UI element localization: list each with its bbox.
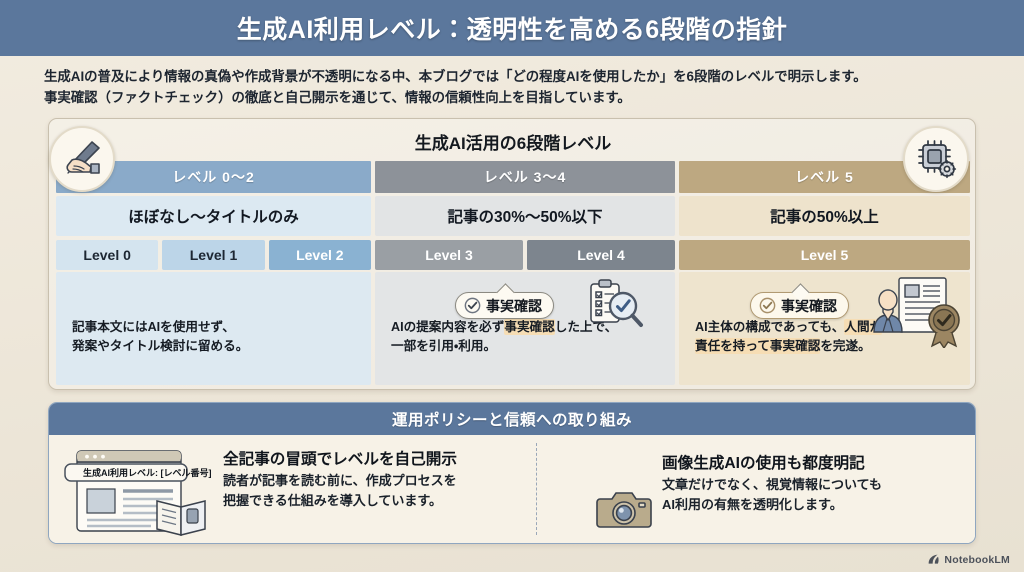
desc2-l2-post: を完遂。 — [820, 339, 870, 353]
fact-check-badge-level-5: 事実確認 — [750, 292, 849, 319]
policy-card: 運用ポリシーと信頼への取り組み — [48, 402, 976, 544]
watermark: NotebookLM — [927, 553, 1010, 566]
policy-item-image-ai-heading: 画像生成AIの使用も都度明記 — [662, 453, 882, 475]
browser-article-book-icon: 生成AI利用レベル: [レベル番号] — [63, 447, 213, 544]
level-chip-0: Level 0 — [56, 240, 158, 270]
policy-item-disclosure: 生成AI利用レベル: [レベル番号] 全記事の冒頭でレベルを自己開示 読者が記事… — [49, 435, 516, 544]
fact-check-badge-level-5-label: 事実確認 — [781, 296, 837, 316]
desc1-l1-pre: AIの提案内容を必ず — [391, 320, 504, 334]
notebooklm-icon — [927, 553, 940, 566]
intro-line-1: 生成AIの普及により情報の真偽や作成背景が不透明になる中、本ブログでは「どの程度… — [44, 66, 984, 87]
policy-card-title: 運用ポリシーと信頼への取り組み — [392, 408, 632, 430]
share-cell-1-label: 記事の30%〜50%以下 — [447, 205, 602, 227]
camera-icon — [596, 487, 652, 536]
desc2-l1-pre: AI主体の構成であっても、 — [695, 320, 844, 334]
watermark-label: NotebookLM — [944, 554, 1010, 566]
share-cell-0: ほぼなし〜タイトルのみ — [56, 196, 371, 236]
level-chip-1: Level 1 — [162, 240, 264, 270]
levels-grid: レベル 0〜2 レベル 3〜4 レベル 5 ほぼなし〜タイトルのみ 記事の30%… — [56, 161, 970, 385]
group-header-0-label: レベル 0〜2 — [172, 167, 254, 187]
level-chip-5: Level 5 — [679, 240, 970, 270]
group-header-2-label: レベル 5 — [795, 167, 854, 187]
fact-check-badge-level-34: 事実確認 — [455, 292, 554, 319]
desc1-l1-highlight: 事実確認 — [504, 319, 554, 335]
share-cell-2-label: 記事の50%以上 — [770, 205, 879, 227]
level-chip-0-label: Level 0 — [83, 247, 130, 263]
policy-item-image-ai-text: 画像生成AIの使用も都度明記 文章だけでなく、視覚情報についても AI利用の有無… — [662, 453, 882, 515]
policy-item-disclosure-text: 全記事の冒頭でレベルを自己開示 読者が記事を読む前に、作成プロセスを 把握できる… — [223, 449, 457, 511]
level-chip-3-label: Level 3 — [425, 247, 472, 263]
desc0-l2-pre: 発案やタイトル検討に留める。 — [72, 339, 248, 353]
level-chip-1-label: Level 1 — [190, 247, 237, 263]
cpu-chip-gear-icon — [903, 126, 969, 192]
group-header-1: レベル 3〜4 — [375, 161, 675, 193]
levels-card: 生成AI活用の6段階レベル レベル 0〜2 レベル 3〜4 レベル 5 ほぼなし… — [48, 118, 976, 390]
description-cell-0-line-2: 発案やタイトル検討に留める。 — [72, 337, 357, 356]
share-row: ほぼなし〜タイトルのみ 記事の30%〜50%以下 記事の50%以上 — [56, 196, 970, 236]
person-certificate-document-icon — [866, 276, 970, 353]
group-header-row: レベル 0〜2 レベル 3〜4 レベル 5 — [56, 161, 970, 193]
policy-mock-label: 生成AI利用レベル: [レベル番号] — [83, 467, 212, 478]
intro-paragraph: 生成AIの普及により情報の真偽や作成背景が不透明になる中、本ブログでは「どの程度… — [44, 66, 984, 108]
policy-item-image-ai-line-1: 文章だけでなく、視覚情報についても — [662, 475, 882, 495]
check-circle-icon — [464, 297, 481, 314]
policy-item-disclosure-heading: 全記事の冒頭でレベルを自己開示 — [223, 449, 457, 471]
policy-item-image-ai-line-2: AI利用の有無を透明化します。 — [662, 495, 882, 515]
policy-card-header: 運用ポリシーと信頼への取り組み — [49, 403, 975, 435]
level-chip-row: Level 0 Level 1 Level 2 Level 3 Level 4 … — [56, 240, 970, 270]
desc2-l2-highlight: 責任を持って事実確認 — [695, 338, 820, 354]
share-cell-0-label: ほぼなし〜タイトルのみ — [128, 205, 299, 227]
policy-item-disclosure-line-1: 読者が記事を読む前に、作成プロセスを — [223, 471, 457, 491]
description-cell-0: 記事本文にはAIを使用せず、 発案やタイトル検討に留める。 — [56, 272, 371, 385]
level-chip-5-label: Level 5 — [801, 247, 848, 263]
check-circle-icon — [759, 297, 776, 314]
desc0-l1-pre: 記事本文にはAIを使用せず、 — [72, 320, 235, 334]
policy-item-disclosure-line-2: 把握できる仕組みを導入しています。 — [223, 491, 457, 511]
level-chip-2: Level 2 — [269, 240, 371, 270]
fact-check-badge-level-34-label: 事実確認 — [486, 296, 542, 316]
share-cell-1: 記事の30%〜50%以下 — [375, 196, 675, 236]
description-row: 記事本文にはAIを使用せず、 発案やタイトル検討に留める。 AIの提案内容を必ず… — [56, 272, 970, 385]
infographic-canvas: 生成AI利用レベル：透明性を高める6段階の指針 生成AIの普及により情報の真偽や… — [0, 0, 1024, 572]
share-cell-2: 記事の50%以上 — [679, 196, 970, 236]
description-cell-0-line-1: 記事本文にはAIを使用せず、 — [72, 318, 357, 337]
clipboard-magnifier-icon — [585, 278, 647, 341]
level-chip-4: Level 4 — [527, 240, 675, 270]
intro-line-2: 事実確認（ファクトチェック）の徹底と自己開示を通じて、情報の信頼性向上を目指して… — [44, 87, 984, 108]
policy-item-image-ai: 画像生成AIの使用も都度明記 文章だけでなく、視覚情報についても AI利用の有無… — [516, 435, 975, 544]
page-title: 生成AI利用レベル：透明性を高める6段階の指針 — [237, 10, 787, 46]
policy-card-body: 生成AI利用レベル: [レベル番号] 全記事の冒頭でレベルを自己開示 読者が記事… — [49, 435, 975, 544]
level-chip-4-label: Level 4 — [577, 247, 624, 263]
header-bar: 生成AI利用レベル：透明性を高める6段階の指針 — [0, 0, 1024, 56]
desc1-l2-pre: 一部を引用・利用。 — [391, 339, 496, 353]
level-chip-2-label: Level 2 — [296, 247, 343, 263]
level-chip-3: Level 3 — [375, 240, 523, 270]
levels-card-title: 生成AI活用の6段階レベル — [49, 129, 977, 154]
group-header-1-label: レベル 3〜4 — [484, 167, 566, 187]
hand-writing-pen-icon — [49, 126, 115, 192]
